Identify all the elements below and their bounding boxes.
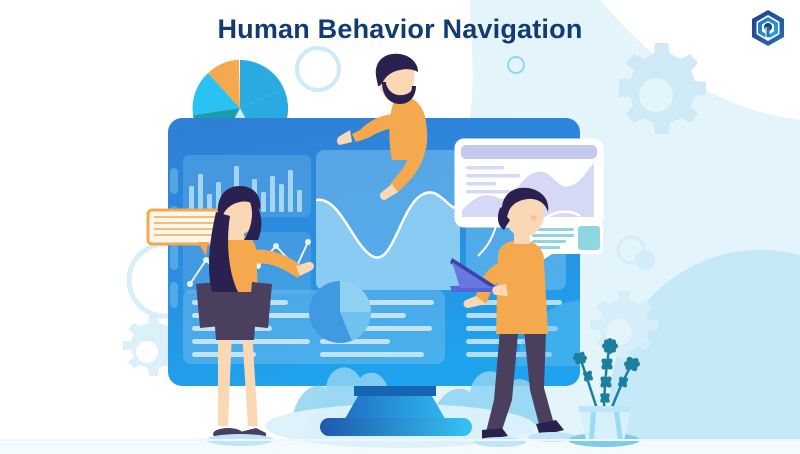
wave-area-chart-panel: [316, 150, 462, 292]
pie-chart-panel: [309, 281, 371, 343]
illustration-stage: Human Behavior Navigation: [0, 0, 800, 454]
hexagon-p-logo[interactable]: [748, 8, 788, 48]
scene-illustration: [0, 0, 800, 454]
